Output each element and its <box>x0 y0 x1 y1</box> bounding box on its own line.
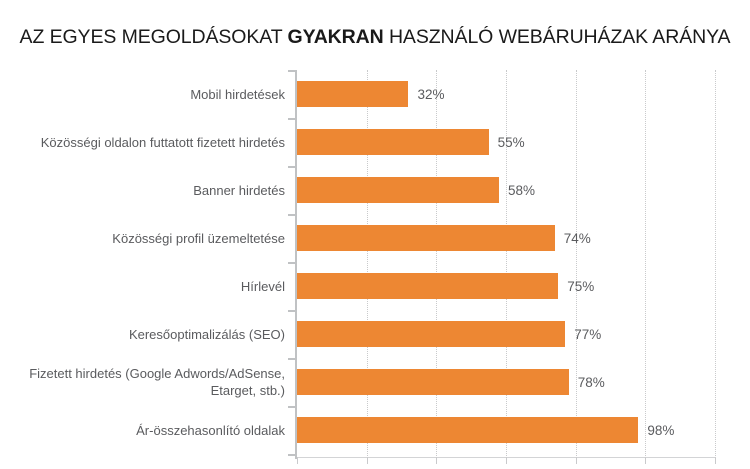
category-axis-tick <box>288 358 295 360</box>
value-axis-tick <box>715 457 716 464</box>
bar-row: Keresőoptimalizálás (SEO)77% <box>0 310 750 358</box>
bar[interactable] <box>297 225 555 251</box>
bar-value-label: 74% <box>564 225 591 251</box>
category-label: Banner hirdetés <box>10 166 285 214</box>
bar-chart: AZ EGYES MEGOLDÁSOKAT GYAKRAN HASZNÁLÓ W… <box>0 0 750 469</box>
category-axis-tick <box>288 118 295 120</box>
category-label: Mobil hirdetések <box>10 70 285 118</box>
category-label: Fizetett hirdetés (Google Adwords/AdSens… <box>10 358 285 406</box>
bar-row: Banner hirdetés58% <box>0 166 750 214</box>
bar[interactable] <box>297 129 489 155</box>
value-axis-tick <box>506 457 507 464</box>
bar[interactable] <box>297 81 408 107</box>
category-label: Hírlevél <box>10 262 285 310</box>
bar-row: Közösségi oldalon futtatott fizetett hir… <box>0 118 750 166</box>
bar-value-label: 32% <box>417 81 444 107</box>
bar-row: Mobil hirdetések32% <box>0 70 750 118</box>
bar-row: Hírlevél75% <box>0 262 750 310</box>
category-axis-tick <box>288 262 295 264</box>
chart-title-emphasis: GYAKRAN <box>288 26 384 48</box>
value-axis-tick <box>297 457 298 464</box>
bar[interactable] <box>297 417 638 443</box>
value-axis-tick <box>576 457 577 464</box>
bar[interactable] <box>297 321 565 347</box>
category-label: Ár-összehasonlító oldalak <box>10 406 285 454</box>
category-axis-tick <box>288 454 295 456</box>
bar-value-label: 58% <box>508 177 535 203</box>
bar-value-label: 98% <box>647 417 674 443</box>
category-axis-tick <box>288 214 295 216</box>
bar-value-label: 77% <box>574 321 601 347</box>
bar-value-label: 78% <box>578 369 605 395</box>
bar-value-label: 55% <box>498 129 525 155</box>
value-axis-tick <box>436 457 437 464</box>
category-axis-tick <box>288 310 295 312</box>
bar[interactable] <box>297 369 569 395</box>
bar-row: Közösségi profil üzemeltetése74% <box>0 214 750 262</box>
category-label: Keresőoptimalizálás (SEO) <box>10 310 285 358</box>
bar-value-label: 75% <box>567 273 594 299</box>
chart-title-prefix: AZ EGYES MEGOLDÁSOKAT <box>20 26 288 48</box>
chart-title: AZ EGYES MEGOLDÁSOKAT GYAKRAN HASZNÁLÓ W… <box>0 26 750 49</box>
value-axis-tick <box>367 457 368 464</box>
bar[interactable] <box>297 177 499 203</box>
category-axis-tick <box>288 166 295 168</box>
bar[interactable] <box>297 273 558 299</box>
category-axis-tick <box>288 70 295 72</box>
value-axis-tick <box>645 457 646 464</box>
chart-title-suffix: HASZNÁLÓ WEBÁRUHÁZAK ARÁNYA <box>384 26 731 48</box>
bar-row: Fizetett hirdetés (Google Adwords/AdSens… <box>0 358 750 406</box>
category-label: Közösségi oldalon futtatott fizetett hir… <box>10 118 285 166</box>
bar-row: Ár-összehasonlító oldalak98% <box>0 406 750 454</box>
category-axis-tick <box>288 406 295 408</box>
category-label: Közösségi profil üzemeltetése <box>10 214 285 262</box>
